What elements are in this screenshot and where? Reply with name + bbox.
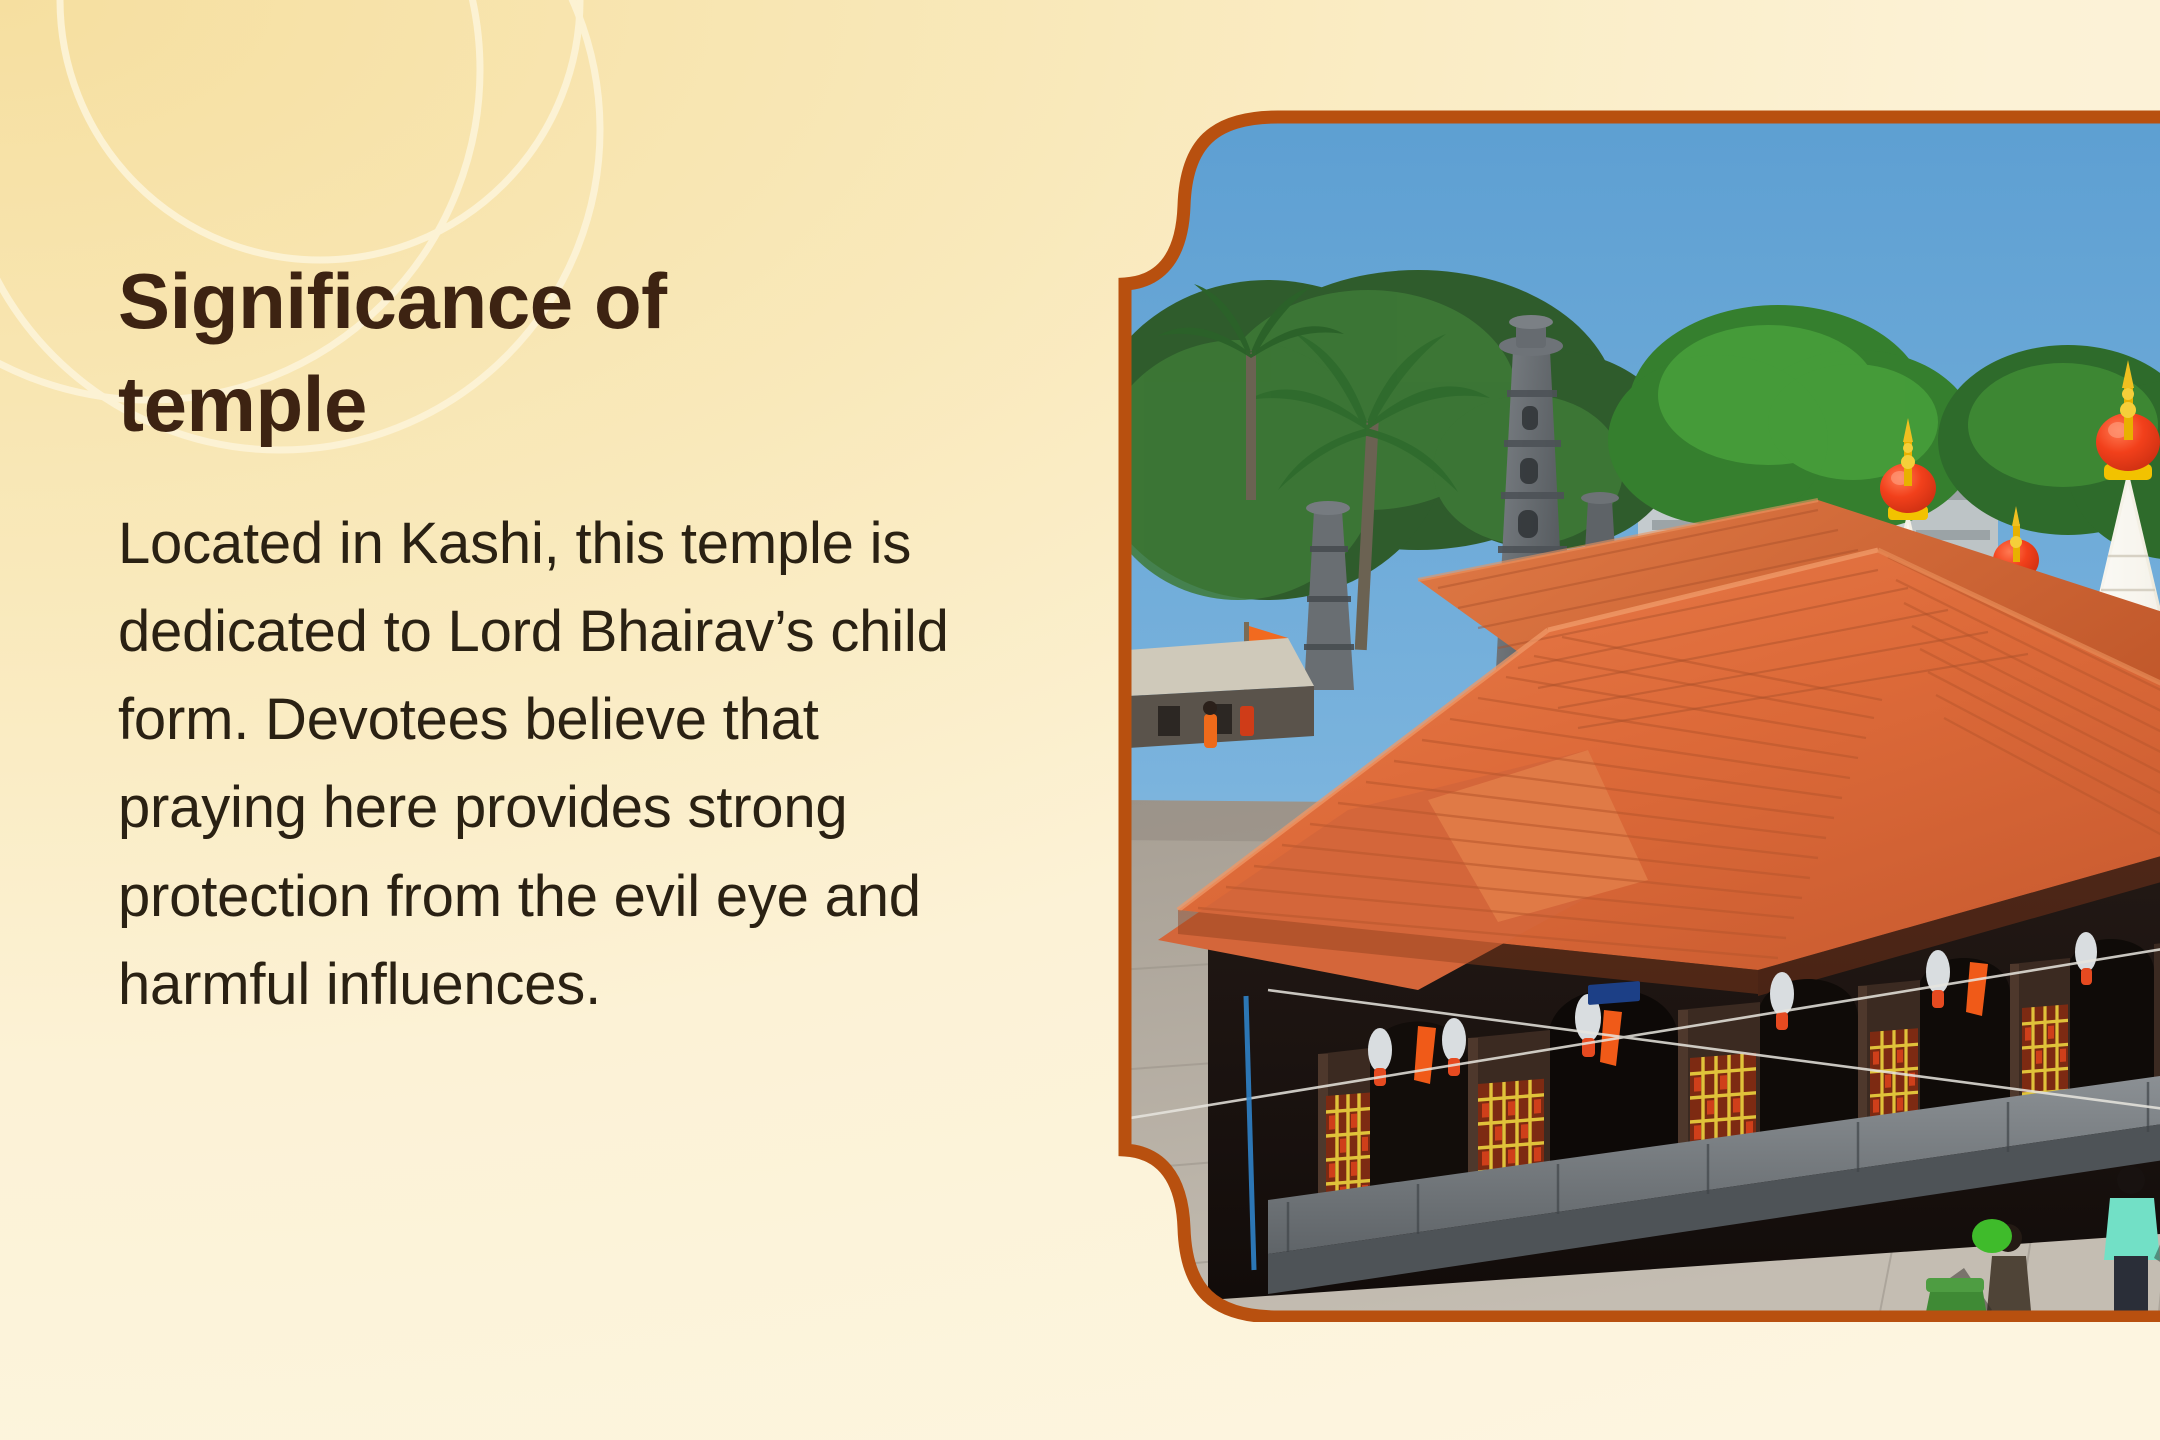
body-paragraph: Located in Kashi, this temple is dedicat… <box>118 500 1018 1029</box>
ogee-frame-border <box>1118 110 2160 1322</box>
page-title: Significance of temple <box>118 250 818 456</box>
temple-photo-frame <box>1118 110 2160 1322</box>
slide-canvas: Significance of temple Located in Kashi,… <box>0 0 2160 1440</box>
text-column: Significance of temple Located in Kashi,… <box>118 250 1038 1029</box>
